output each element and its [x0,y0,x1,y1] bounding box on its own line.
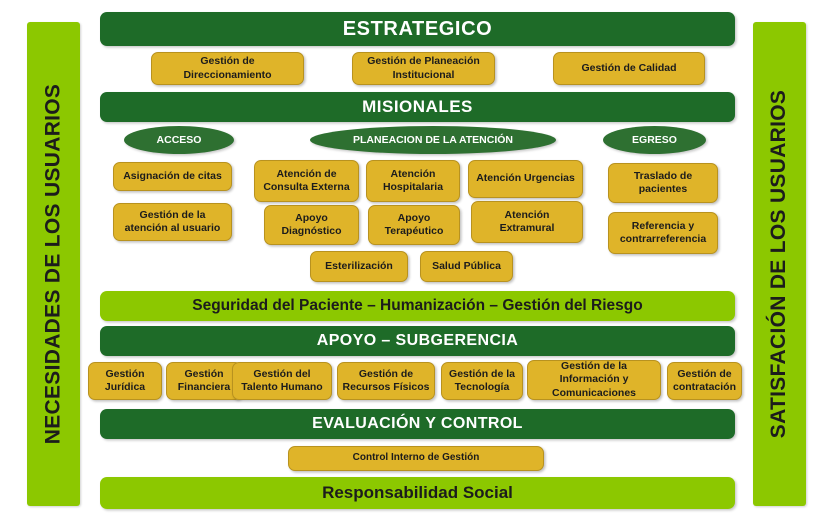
box-atencion-extramural[interactable]: Atención Extramural [471,201,583,243]
box-gestion-atencion-usuario[interactable]: Gestión de la atención al usuario [113,203,232,241]
box-label: Gestión de la Tecnología [446,368,518,395]
box-label: Esterilización [325,260,393,273]
box-atencion-hospitalaria[interactable]: Atención Hospitalaria [366,160,460,202]
box-gestion-financiera[interactable]: Gestión Financiera [166,362,242,400]
ellipse-egreso[interactable]: EGRESO [603,126,706,154]
box-label: Gestión Jurídica [93,368,157,395]
banner-responsabilidad-label: Responsabilidad Social [322,483,513,503]
box-label: Gestión de contratación [672,368,737,395]
box-atencion-consulta-externa[interactable]: Atención de Consulta Externa [254,160,359,202]
box-label: Gestión de Calidad [581,62,676,75]
box-gestion-recursos-fisicos[interactable]: Gestión de Recursos Físicos [337,362,435,400]
box-gestion-juridica[interactable]: Gestión Jurídica [88,362,162,400]
box-label: Referencia y contrarreferencia [613,220,713,247]
ellipse-label: EGRESO [632,134,677,146]
banner-seguridad-paciente: Seguridad del Paciente – Humanización – … [100,291,735,321]
box-label: Asignación de citas [123,170,222,183]
satisfaction-of-users-bar: SATISFACIÓN DE LOS USUARIOS [753,22,806,506]
banner-seguridad-label: Seguridad del Paciente – Humanización – … [192,297,642,315]
ellipse-acceso[interactable]: ACCESO [124,126,234,154]
banner-responsabilidad-social: Responsabilidad Social [100,477,735,509]
box-traslado-de-pacientes[interactable]: Traslado de pacientes [608,163,718,203]
banner-apoyo-subgerencia: APOYO – SUBGERENCIA [100,326,735,356]
box-label: Atención Extramural [476,209,578,236]
needs-of-users-bar: NECESIDADES DE LOS USUARIOS [27,22,80,506]
banner-misionales: MISIONALES [100,92,735,122]
box-label: Apoyo Terapéutico [373,212,455,239]
box-label: Control Interno de Gestión [353,452,480,465]
box-salud-publica[interactable]: Salud Pública [420,251,513,282]
box-gestion-talento-humano[interactable]: Gestión del Talento Humano [232,362,332,400]
banner-evaluacion-label: EVALUACIÓN Y CONTROL [312,415,523,433]
satisfaction-of-users-label: SATISFACIÓN DE LOS USUARIOS [768,90,792,438]
box-label: Atención de Consulta Externa [259,168,354,195]
banner-apoyo-label: APOYO – SUBGERENCIA [317,332,518,350]
box-label: Traslado de pacientes [613,170,713,197]
box-label: Salud Pública [432,260,501,273]
box-label: Gestión de Direccionamiento [156,55,299,82]
box-referencia-contrarreferencia[interactable]: Referencia y contrarreferencia [608,212,718,254]
box-label: Gestión de Recursos Físicos [342,368,430,395]
ellipse-planeacion-atencion[interactable]: PLANEACION DE LA ATENCIÓN [310,126,556,154]
box-esterilizacion[interactable]: Esterilización [310,251,408,282]
needs-of-users-label: NECESIDADES DE LOS USUARIOS [42,84,66,445]
box-label: Gestión de la atención al usuario [118,209,227,236]
box-label: Gestión Financiera [171,368,237,395]
box-label: Gestión de la Información y Comunicacion… [532,360,656,400]
box-gestion-direccionamiento[interactable]: Gestión de Direccionamiento [151,52,304,85]
box-asignacion-de-citas[interactable]: Asignación de citas [113,162,232,191]
box-gestion-informacion-comunicaciones[interactable]: Gestión de la Información y Comunicacion… [527,360,661,400]
banner-misionales-label: MISIONALES [362,97,473,117]
box-gestion-calidad[interactable]: Gestión de Calidad [553,52,705,85]
box-label: Atención Urgencias [476,172,575,185]
banner-estrategico-label: ESTRATEGICO [343,18,493,41]
box-gestion-planeacion-institucional[interactable]: Gestión de Planeación Institucional [352,52,495,85]
box-atencion-urgencias[interactable]: Atención Urgencias [468,160,583,198]
banner-estrategico: ESTRATEGICO [100,12,735,46]
banner-evaluacion-control: EVALUACIÓN Y CONTROL [100,409,735,439]
box-label: Gestión del Talento Humano [237,368,327,395]
box-label: Apoyo Diagnóstico [269,212,354,239]
box-label: Atención Hospitalaria [371,168,455,195]
box-control-interno-gestion[interactable]: Control Interno de Gestión [288,446,544,471]
box-gestion-contratacion[interactable]: Gestión de contratación [667,362,742,400]
ellipse-label: ACCESO [157,134,202,146]
ellipse-label: PLANEACION DE LA ATENCIÓN [353,134,513,146]
box-apoyo-terapeutico[interactable]: Apoyo Terapéutico [368,205,460,245]
box-apoyo-diagnostico[interactable]: Apoyo Diagnóstico [264,205,359,245]
box-gestion-tecnologia[interactable]: Gestión de la Tecnología [441,362,523,400]
process-map-diagram: NECESIDADES DE LOS USUARIOS SATISFACIÓN … [0,0,829,528]
box-label: Gestión de Planeación Institucional [357,55,490,82]
